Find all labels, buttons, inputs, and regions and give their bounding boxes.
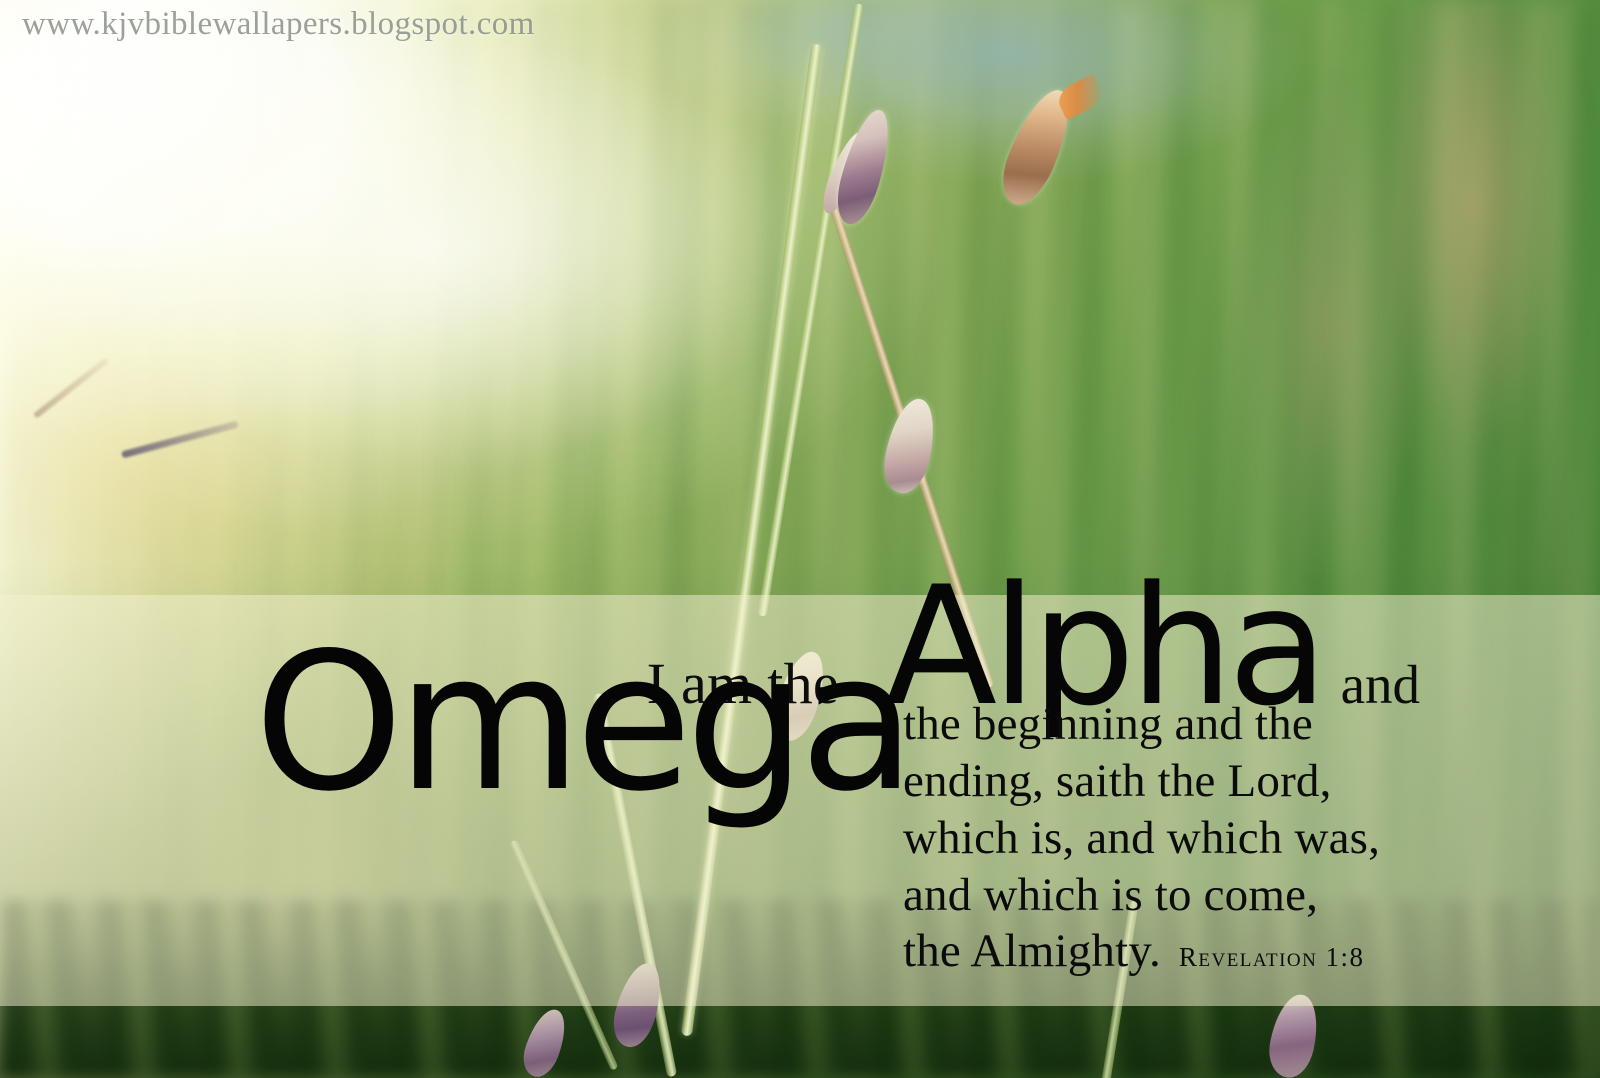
verse-body-line-5-text: the Almighty. <box>903 925 1161 977</box>
verse-word-alpha: Alpha <box>885 583 1323 711</box>
verse-body-text: the beginning and the ending, saith the … <box>903 696 1495 980</box>
verse-reference: Revelation 1:8 <box>1179 942 1365 972</box>
site-watermark: www.kjvbiblewallapers.blogspot.com <box>22 5 535 45</box>
verse-body-line-1: the beginning and the <box>903 696 1495 753</box>
verse-body-line-5: the Almighty.Revelation 1:8 <box>903 923 1495 980</box>
verse-body-line-4: and which is to come, <box>903 867 1495 924</box>
verse-body-line-2: ending, saith the Lord, <box>903 753 1495 810</box>
verse-wallpaper: www.kjvbiblewallapers.blogspot.com I am … <box>0 0 1600 1078</box>
verse-text-layer: www.kjvbiblewallapers.blogspot.com I am … <box>0 0 1600 1078</box>
verse-body-line-3: which is, and which was, <box>903 810 1495 867</box>
verse-word-omega: Omega <box>254 645 909 801</box>
